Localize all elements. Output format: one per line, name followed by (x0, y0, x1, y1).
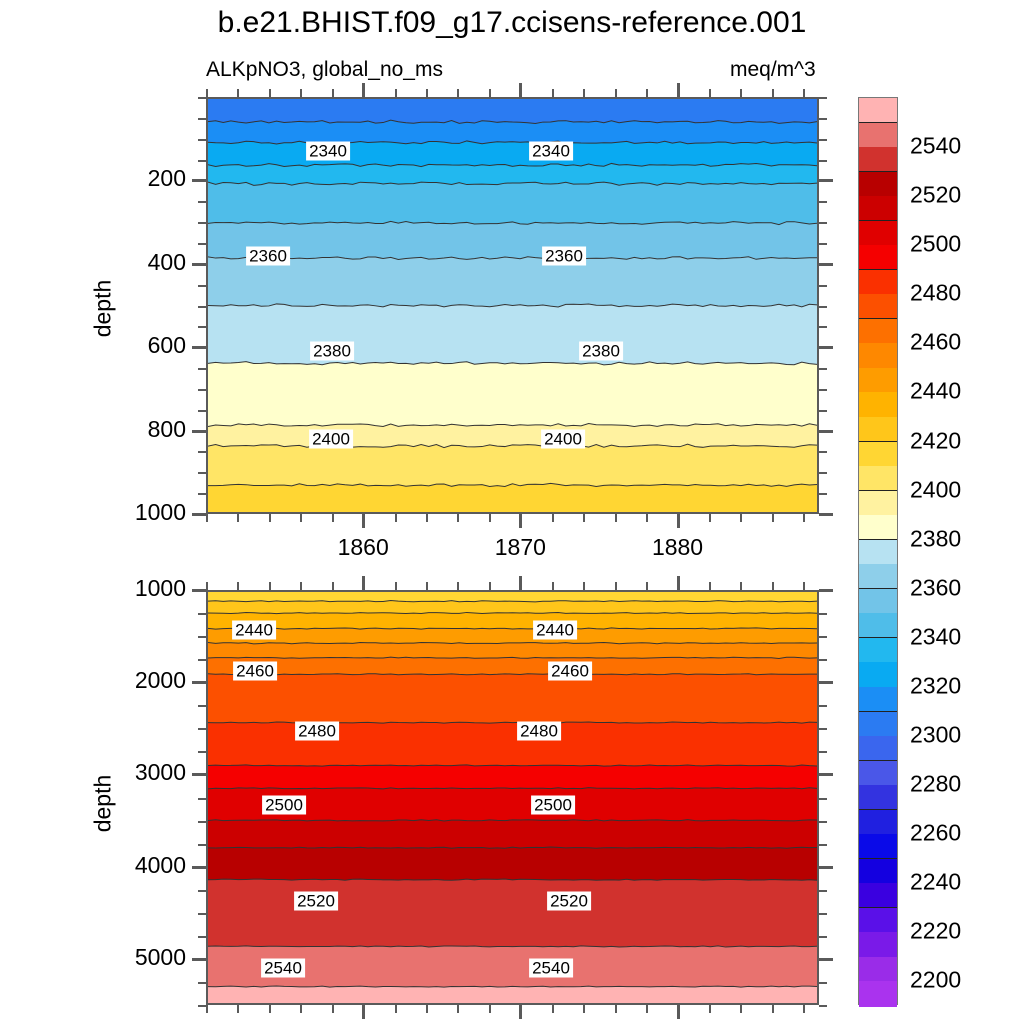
colorbar-tick-label: 2380 (910, 525, 961, 552)
units-subtitle: meq/m^3 (730, 58, 816, 82)
contour-label: 2480 (295, 722, 339, 741)
y-minor-tick (198, 472, 206, 474)
x-minor-tick (332, 89, 334, 97)
colorbar-swatch (859, 196, 897, 221)
x-minor-tick (803, 514, 805, 522)
colorbar-swatch (859, 638, 897, 663)
y-minor-tick (198, 243, 206, 245)
x-minor-tick (740, 582, 742, 590)
y-tick-label: 600 (66, 332, 186, 359)
colorbar-tick-label: 2440 (910, 378, 961, 405)
y-minor-tick (819, 389, 827, 391)
y-major-tick (192, 346, 206, 349)
contour-label: 2380 (310, 342, 354, 361)
contour-label: 2440 (232, 621, 276, 640)
contour-label: 2340 (529, 142, 573, 161)
x-minor-tick (489, 1005, 491, 1013)
y-minor-tick (198, 306, 206, 308)
y-minor-tick (198, 368, 206, 370)
contour-label: 2500 (262, 796, 306, 815)
y-minor-tick (198, 97, 206, 99)
x-major-tick (677, 576, 680, 590)
contour-band (208, 628, 817, 644)
y-major-tick (819, 866, 833, 869)
contour-band (208, 601, 817, 614)
y-minor-tick (819, 821, 827, 823)
x-minor-tick (426, 89, 428, 97)
x-minor-tick (426, 514, 428, 522)
y-tick-label: 4000 (66, 852, 186, 879)
variable-subtitle: ALKpNO3, global_no_ms (206, 58, 443, 82)
y-minor-tick (819, 493, 827, 495)
contour-label: 2360 (246, 247, 290, 266)
x-minor-tick (583, 514, 585, 522)
contour-band (208, 592, 817, 602)
contour-band (208, 847, 817, 880)
y-tick-label: 1000 (66, 575, 186, 602)
y-minor-tick (819, 613, 827, 615)
y-major-tick (192, 773, 206, 776)
y-tick-label: 400 (66, 249, 186, 276)
x-minor-tick (583, 89, 585, 97)
x-minor-tick (206, 514, 208, 522)
x-tick-label: 1880 (618, 534, 738, 561)
y-minor-tick (198, 636, 206, 638)
x-minor-tick (426, 1005, 428, 1013)
colorbar-swatch (859, 466, 897, 491)
colorbar-tick-label: 2540 (910, 133, 961, 160)
x-minor-tick (395, 1005, 397, 1013)
contour-band (208, 820, 817, 849)
colorbar-swatch (859, 564, 897, 589)
contour-band (208, 483, 817, 512)
colorbar-swatch (859, 761, 897, 786)
x-major-tick (677, 1005, 680, 1019)
colorbar-tick-label: 2520 (910, 182, 961, 209)
contour-label: 2380 (579, 342, 623, 361)
x-minor-tick (740, 1005, 742, 1013)
x-minor-tick (740, 514, 742, 522)
x-minor-tick (740, 89, 742, 97)
x-minor-tick (552, 89, 554, 97)
contour-band (208, 99, 817, 123)
x-tick-label: 1870 (460, 534, 580, 561)
x-minor-tick (709, 1005, 711, 1013)
x-minor-tick (457, 582, 459, 590)
x-minor-tick (395, 89, 397, 97)
x-major-tick (519, 83, 522, 97)
x-minor-tick (772, 582, 774, 590)
colorbar-swatch (859, 810, 897, 835)
contour-band (208, 612, 817, 629)
contour-band (208, 304, 817, 365)
y-major-tick (819, 513, 833, 516)
x-minor-tick (300, 1005, 302, 1013)
y-minor-tick (198, 1005, 206, 1007)
colorbar-tick-label: 2260 (910, 820, 961, 847)
y-minor-tick (819, 913, 827, 915)
colorbar-tick-label: 2320 (910, 672, 961, 699)
x-major-tick (519, 576, 522, 590)
colorbar-tick-label: 2420 (910, 427, 961, 454)
y-minor-tick (198, 326, 206, 328)
y-tick-label: 1000 (66, 499, 186, 526)
y-minor-tick (198, 160, 206, 162)
y-major-tick (192, 263, 206, 266)
x-minor-tick (395, 582, 397, 590)
contour-band (208, 674, 817, 724)
colorbar-swatch (859, 908, 897, 933)
colorbar[interactable] (858, 97, 898, 1005)
x-major-tick (677, 514, 680, 528)
contour-band (208, 444, 817, 486)
x-major-tick (362, 576, 365, 590)
y-tick-label: 3000 (66, 759, 186, 786)
contour-band (208, 424, 817, 448)
colorbar-swatch (859, 392, 897, 417)
x-minor-tick (646, 89, 648, 97)
x-minor-tick (237, 89, 239, 97)
y-minor-tick (198, 201, 206, 203)
y-major-tick (819, 263, 833, 266)
y-major-tick (819, 346, 833, 349)
y-minor-tick (819, 410, 827, 412)
x-minor-tick (772, 89, 774, 97)
y-minor-tick (198, 139, 206, 141)
x-minor-tick (803, 582, 805, 590)
colorbar-swatch (859, 294, 897, 319)
contour-band (208, 257, 817, 307)
x-minor-tick (206, 89, 208, 97)
x-minor-tick (269, 514, 271, 522)
contour-label: 2520 (547, 892, 591, 911)
x-minor-tick (552, 514, 554, 522)
x-minor-tick (803, 89, 805, 97)
x-major-tick (362, 514, 365, 528)
colorbar-swatch (859, 883, 897, 908)
y-tick-label: 200 (66, 165, 186, 192)
colorbar-swatch (859, 270, 897, 295)
x-minor-tick (457, 89, 459, 97)
colorbar-tick-label: 2480 (910, 280, 961, 307)
x-major-tick (519, 514, 522, 528)
y-major-tick (192, 681, 206, 684)
y-minor-tick (198, 451, 206, 453)
x-tick-label: 1860 (303, 534, 423, 561)
page-title: b.e21.BHIST.f09_g17.ccisens-reference.00… (0, 6, 1024, 40)
x-minor-tick (237, 1005, 239, 1013)
y-minor-tick (198, 982, 206, 984)
x-minor-tick (772, 514, 774, 522)
y-minor-tick (198, 659, 206, 661)
x-minor-tick (709, 89, 711, 97)
y-minor-tick (198, 118, 206, 120)
contour-plot-figure: b.e21.BHIST.f09_g17.ccisens-reference.00… (0, 0, 1024, 1024)
y-minor-tick (198, 936, 206, 938)
colorbar-swatch (859, 712, 897, 737)
y-minor-tick (819, 890, 827, 892)
x-minor-tick (332, 1005, 334, 1013)
y-minor-tick (819, 326, 827, 328)
colorbar-swatch (859, 123, 897, 148)
x-minor-tick (772, 1005, 774, 1013)
contour-label: 2360 (542, 247, 586, 266)
colorbar-swatch (859, 319, 897, 344)
x-minor-tick (615, 582, 617, 590)
contour-label: 2400 (309, 430, 353, 449)
y-major-tick (192, 179, 206, 182)
x-minor-tick (457, 514, 459, 522)
x-minor-tick (489, 89, 491, 97)
y-major-tick (819, 589, 833, 592)
x-minor-tick (646, 1005, 648, 1013)
contour-label: 2400 (541, 430, 585, 449)
colorbar-tick-label: 2300 (910, 722, 961, 749)
colorbar-tick-label: 2500 (910, 231, 961, 258)
x-minor-tick (583, 582, 585, 590)
colorbar-swatch (859, 687, 897, 712)
y-minor-tick (819, 728, 827, 730)
contour-band (208, 643, 817, 659)
x-minor-tick (615, 514, 617, 522)
y-major-tick (192, 589, 206, 592)
x-minor-tick (300, 89, 302, 97)
y-major-tick (192, 866, 206, 869)
x-minor-tick (552, 582, 554, 590)
y-minor-tick (819, 636, 827, 638)
x-minor-tick (300, 514, 302, 522)
x-minor-tick (489, 582, 491, 590)
y-minor-tick (819, 118, 827, 120)
y-major-tick (819, 179, 833, 182)
y-minor-tick (198, 389, 206, 391)
colorbar-swatch (859, 981, 897, 1006)
colorbar-swatch (859, 785, 897, 810)
contour-label: 2460 (548, 662, 592, 681)
contour-band (208, 362, 817, 427)
colorbar-swatch (859, 343, 897, 368)
y-minor-tick (198, 890, 206, 892)
x-minor-tick (332, 514, 334, 522)
y-minor-tick (198, 728, 206, 730)
y-major-tick (819, 430, 833, 433)
x-minor-tick (615, 1005, 617, 1013)
contour-label: 2340 (306, 142, 350, 161)
y-major-tick (819, 681, 833, 684)
colorbar-swatch (859, 368, 897, 393)
y-minor-tick (198, 844, 206, 846)
colorbar-swatch (859, 442, 897, 467)
colorbar-tick-label: 2200 (910, 967, 961, 994)
contour-label: 2480 (517, 722, 561, 741)
contour-label: 2540 (529, 959, 573, 978)
y-minor-tick (819, 97, 827, 99)
contour-band (208, 141, 817, 167)
colorbar-swatch (859, 491, 897, 516)
y-minor-tick (198, 613, 206, 615)
y-minor-tick (198, 493, 206, 495)
y-major-tick (819, 958, 833, 961)
y-minor-tick (819, 306, 827, 308)
colorbar-swatch (859, 736, 897, 761)
y-minor-tick (819, 982, 827, 984)
y-minor-tick (198, 913, 206, 915)
colorbar-swatch (859, 98, 897, 123)
y-minor-tick (198, 751, 206, 753)
x-minor-tick (269, 582, 271, 590)
colorbar-swatch (859, 540, 897, 565)
x-minor-tick (269, 89, 271, 97)
y-minor-tick (819, 472, 827, 474)
colorbar-swatch (859, 932, 897, 957)
y-tick-label: 800 (66, 416, 186, 443)
colorbar-swatch (859, 515, 897, 540)
x-minor-tick (489, 514, 491, 522)
x-major-tick (519, 1005, 522, 1019)
x-minor-tick (457, 1005, 459, 1013)
y-minor-tick (819, 451, 827, 453)
colorbar-tick-label: 2360 (910, 574, 961, 601)
contour-band (208, 182, 817, 224)
y-minor-tick (198, 410, 206, 412)
y-tick-label: 5000 (66, 944, 186, 971)
y-minor-tick (819, 751, 827, 753)
y-minor-tick (819, 243, 827, 245)
colorbar-tick-label: 2280 (910, 771, 961, 798)
y-minor-tick (819, 936, 827, 938)
y-minor-tick (819, 139, 827, 141)
y-major-tick (192, 430, 206, 433)
y-minor-tick (198, 705, 206, 707)
colorbar-tick-label: 2400 (910, 476, 961, 503)
x-minor-tick (395, 514, 397, 522)
colorbar-tick-label: 2460 (910, 329, 961, 356)
y-minor-tick (819, 705, 827, 707)
y-tick-label: 2000 (66, 667, 186, 694)
contour-band (208, 657, 817, 675)
contour-label: 2500 (531, 796, 575, 815)
colorbar-swatch (859, 834, 897, 859)
x-minor-tick (206, 1005, 208, 1013)
y-minor-tick (819, 659, 827, 661)
colorbar-swatch (859, 859, 897, 884)
contour-label: 2460 (233, 662, 277, 681)
y-minor-tick (819, 844, 827, 846)
colorbar-tick-label: 2340 (910, 623, 961, 650)
x-minor-tick (583, 1005, 585, 1013)
x-minor-tick (237, 514, 239, 522)
x-minor-tick (615, 89, 617, 97)
y-minor-tick (198, 285, 206, 287)
x-minor-tick (646, 582, 648, 590)
upper-panel-plot-area (206, 97, 819, 514)
y-minor-tick (819, 368, 827, 370)
colorbar-swatch (859, 417, 897, 442)
y-minor-tick (819, 285, 827, 287)
colorbar-tick-label: 2240 (910, 869, 961, 896)
x-minor-tick (803, 1005, 805, 1013)
contour-band (208, 120, 817, 144)
x-minor-tick (332, 582, 334, 590)
contour-band (208, 986, 817, 1003)
y-minor-tick (819, 798, 827, 800)
y-minor-tick (819, 222, 827, 224)
contour-band (208, 221, 817, 259)
contour-label: 2520 (294, 892, 338, 911)
colorbar-swatch (859, 613, 897, 638)
colorbar-swatch (859, 221, 897, 246)
x-minor-tick (237, 582, 239, 590)
x-major-tick (677, 83, 680, 97)
x-minor-tick (300, 582, 302, 590)
x-minor-tick (206, 582, 208, 590)
colorbar-swatch (859, 172, 897, 197)
x-minor-tick (709, 582, 711, 590)
contour-band (208, 879, 817, 947)
y-minor-tick (198, 222, 206, 224)
colorbar-swatch (859, 957, 897, 982)
y-major-tick (192, 958, 206, 961)
colorbar-swatch (859, 662, 897, 687)
x-major-tick (362, 1005, 365, 1019)
y-major-tick (819, 773, 833, 776)
x-minor-tick (646, 514, 648, 522)
colorbar-swatch (859, 245, 897, 270)
y-minor-tick (198, 821, 206, 823)
y-major-tick (192, 513, 206, 516)
colorbar-swatch (859, 147, 897, 172)
y-minor-tick (198, 798, 206, 800)
y-minor-tick (819, 160, 827, 162)
colorbar-tick-label: 2220 (910, 918, 961, 945)
y-minor-tick (819, 201, 827, 203)
x-minor-tick (426, 582, 428, 590)
x-minor-tick (269, 1005, 271, 1013)
contour-label: 2440 (533, 621, 577, 640)
x-major-tick (362, 83, 365, 97)
x-minor-tick (709, 514, 711, 522)
contour-label: 2540 (261, 959, 305, 978)
colorbar-swatch (859, 589, 897, 614)
y-minor-tick (819, 1005, 827, 1007)
contour-band (208, 765, 817, 789)
x-minor-tick (552, 1005, 554, 1013)
